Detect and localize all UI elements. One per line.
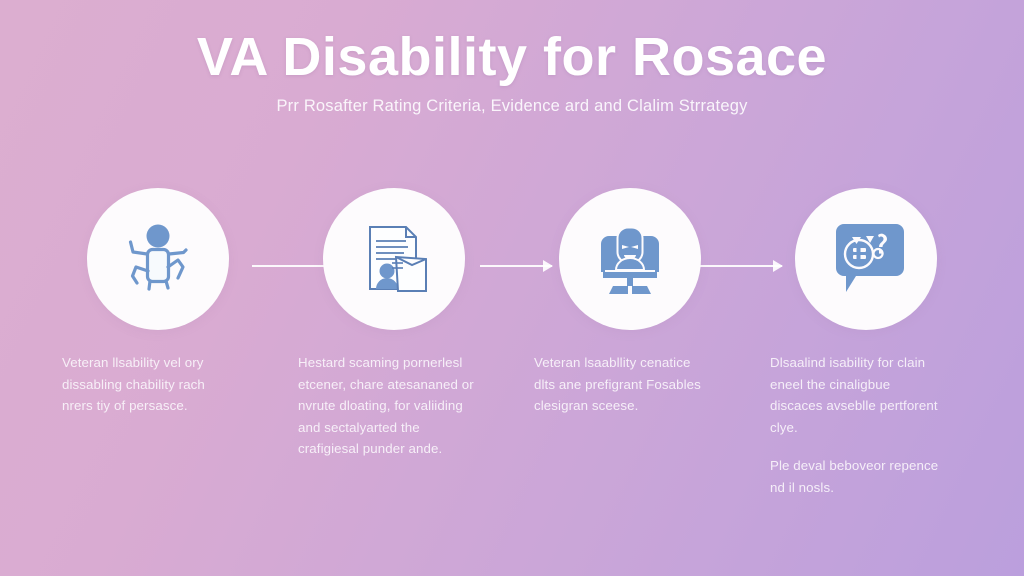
step-4-paragraph-2: Ple deval beboveor repence nd il nosls. [770,455,946,498]
infographic-canvas: VA Disability for Rosace Prr Rosafter Ra… [0,0,1024,576]
header: VA Disability for Rosace Prr Rosafter Ra… [0,28,1024,116]
step-1-paragraph: Veteran llsability vel ory dissabling ch… [62,352,238,417]
step-3-icon-circle [559,188,701,330]
document-record-icon [356,221,432,297]
step-2-paragraph: Hestard scaming pornerlesl etcener, char… [298,352,474,460]
step-1-icon-circle [87,188,229,330]
step-2: Hestard scaming pornerlesl etcener, char… [294,188,494,498]
speech-bubble-question-icon [828,222,904,296]
step-1-caption: Veteran llsability vel ory dissabling ch… [62,352,238,417]
person-at-desk-icon [591,222,669,296]
step-4-paragraph-1: Dlsaalind isability for clain eneel the … [770,352,946,438]
step-4: Dlsaalind isability for clain eneel the … [766,188,966,498]
page-subtitle: Prr Rosafter Rating Criteria, Evidence a… [0,97,1024,116]
step-3: Veteran lsaabllity cenatice dlts ane pre… [530,188,730,498]
step-2-caption: Hestard scaming pornerlesl etcener, char… [298,352,474,460]
step-1: Veteran llsability vel ory dissabling ch… [58,188,258,498]
step-4-caption: Dlsaalind isability for clain eneel the … [770,352,946,498]
step-3-paragraph: Veteran lsaabllity cenatice dlts ane pre… [534,352,710,417]
steps-row: Veteran llsability vel ory dissabling ch… [58,188,966,498]
page-title: VA Disability for Rosace [0,28,1024,86]
person-figure-icon [119,223,197,295]
step-4-icon-circle [795,188,937,330]
step-3-caption: Veteran lsaabllity cenatice dlts ane pre… [534,352,710,417]
step-2-icon-circle [323,188,465,330]
